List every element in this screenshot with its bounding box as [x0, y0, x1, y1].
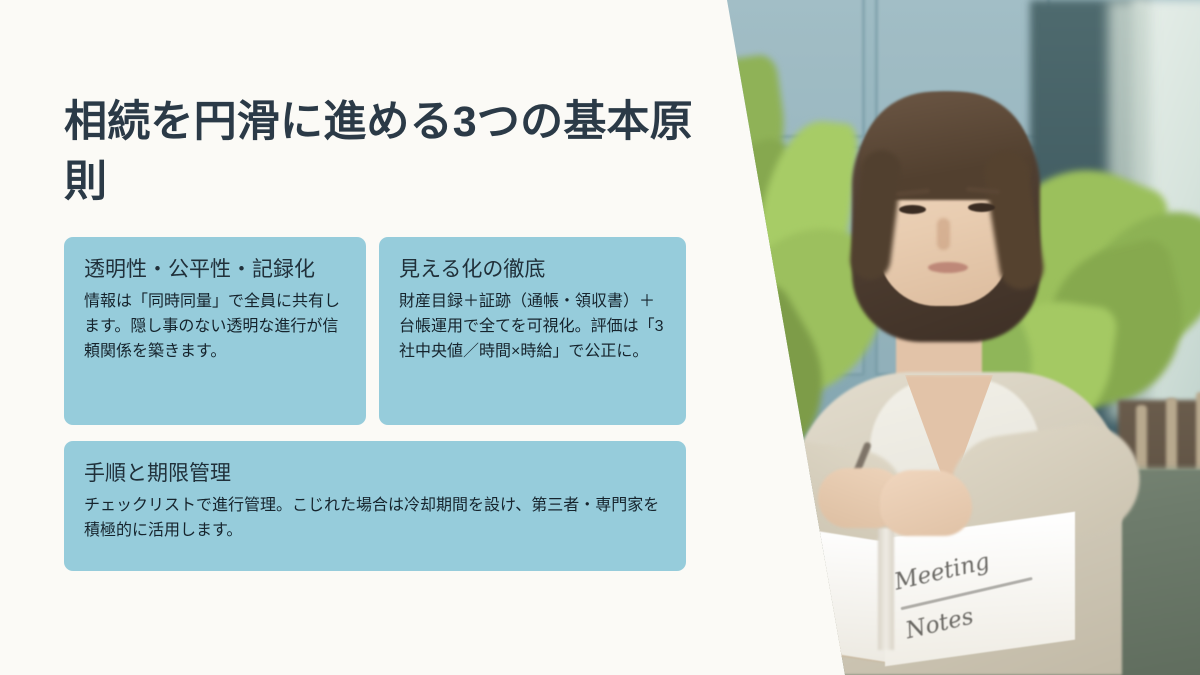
card-title: 透明性・公平性・記録化	[84, 255, 346, 285]
principle-card-2: 見える化の徹底 財産目録＋証跡（通帳・領収書）＋台帳運用で全てを可視化。評価は「…	[379, 237, 686, 425]
card-body: 情報は「同時同量」で全員に共有します。隠し事のない透明な進行が信頼関係を築きます…	[84, 289, 346, 364]
notebook-spine	[878, 528, 894, 650]
card-title: 見える化の徹底	[399, 255, 666, 285]
person-eye	[968, 203, 995, 212]
principle-card-1: 透明性・公平性・記録化 情報は「同時同量」で全員に共有します。隠し事のない透明な…	[64, 237, 366, 425]
text-column: 相続を円滑に進める3つの基本原則 透明性・公平性・記録化 情報は「同時同量」で全…	[64, 0, 704, 675]
card-body: チェックリストで進行管理。こじれた場合は冷却期間を設け、第三者・専門家を積極的に…	[84, 493, 666, 543]
page-title: 相続を円滑に進める3つの基本原則	[64, 92, 694, 212]
presentation-slide: 相続を円滑に進める3つの基本原則 透明性・公平性・記録化 情報は「同時同量」で全…	[0, 0, 1200, 675]
card-body: 財産目録＋証跡（通帳・領収書）＋台帳運用で全てを可視化。評価は「3社中央値／時間…	[399, 289, 666, 364]
person-nose	[937, 218, 950, 250]
person-mouth	[928, 262, 968, 273]
principle-card-3: 手順と期限管理 チェックリストで進行管理。こじれた場合は冷却期間を設け、第三者・…	[64, 441, 686, 571]
person-hand-right	[880, 470, 972, 536]
person-eye	[899, 205, 926, 214]
card-title: 手順と期限管理	[84, 459, 666, 489]
hero-photo: Meeting Notes	[700, 0, 1200, 675]
